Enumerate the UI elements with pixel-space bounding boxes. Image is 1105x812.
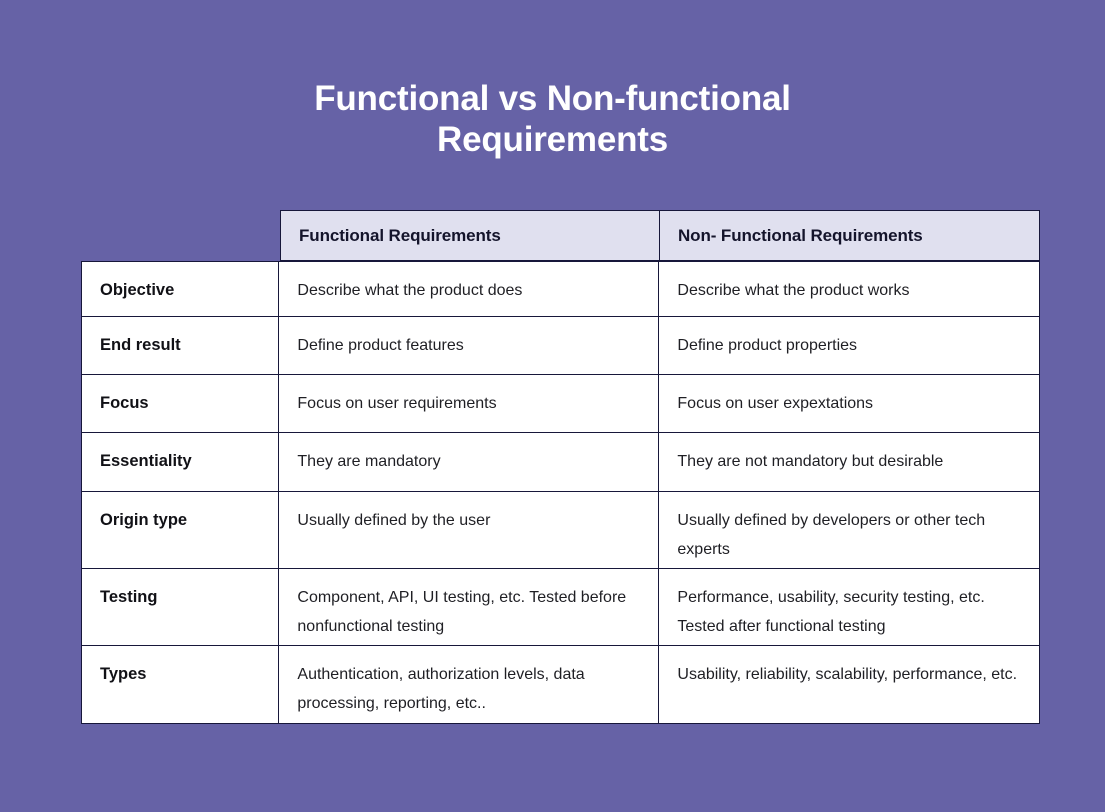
row-functional-types: Authentication, authorization levels, da… bbox=[279, 646, 659, 723]
row-functional-testing: Component, API, UI testing, etc. Tested … bbox=[279, 569, 659, 645]
row-non-functional-objective: Describe what the product works bbox=[659, 262, 1037, 316]
column-header-functional-label: Functional Requirements bbox=[299, 226, 501, 246]
page-title-line-1: Functional vs Non-functional bbox=[0, 78, 1105, 119]
column-header-non-functional: Non- Functional Requirements bbox=[660, 211, 1039, 260]
row-functional-focus: Focus on user requirements bbox=[279, 375, 659, 432]
row-label-end-result: End result bbox=[82, 317, 279, 374]
column-header-functional: Functional Requirements bbox=[281, 211, 660, 260]
row-label-types: Types bbox=[82, 646, 279, 723]
comparison-table: Functional Requirements Non- Functional … bbox=[81, 210, 1040, 722]
row-non-functional-focus: Focus on user expextations bbox=[659, 375, 1037, 432]
row-functional-end-result: Define product features bbox=[279, 317, 659, 374]
row-label-testing: Testing bbox=[82, 569, 279, 645]
row-functional-objective: Describe what the product does bbox=[279, 262, 659, 316]
table-row: Focus Focus on user requirements Focus o… bbox=[82, 375, 1039, 433]
row-non-functional-types: Usability, reliability, scalability, per… bbox=[659, 646, 1037, 723]
table-row: Essentiality They are mandatory They are… bbox=[82, 433, 1039, 492]
table-header-row: Functional Requirements Non- Functional … bbox=[280, 210, 1040, 261]
row-functional-essentiality: They are mandatory bbox=[279, 433, 659, 491]
table-row: End result Define product features Defin… bbox=[82, 317, 1039, 375]
row-label-origin-type: Origin type bbox=[82, 492, 279, 568]
row-non-functional-essentiality: They are not mandatory but desirable bbox=[659, 433, 1037, 491]
page-title: Functional vs Non-functional Requirement… bbox=[0, 78, 1105, 160]
column-header-non-functional-label: Non- Functional Requirements bbox=[678, 226, 923, 246]
table-row: Origin type Usually defined by the user … bbox=[82, 492, 1039, 569]
row-non-functional-origin-type: Usually defined by developers or other t… bbox=[659, 492, 1037, 568]
row-label-objective: Objective bbox=[82, 262, 279, 316]
table-body: Objective Describe what the product does… bbox=[81, 261, 1040, 724]
table-row: Testing Component, API, UI testing, etc.… bbox=[82, 569, 1039, 646]
table-row: Types Authentication, authorization leve… bbox=[82, 646, 1039, 723]
row-non-functional-end-result: Define product properties bbox=[659, 317, 1037, 374]
row-functional-origin-type: Usually defined by the user bbox=[279, 492, 659, 568]
row-label-essentiality: Essentiality bbox=[82, 433, 279, 491]
row-label-focus: Focus bbox=[82, 375, 279, 432]
row-non-functional-testing: Performance, usability, security testing… bbox=[659, 569, 1037, 645]
table-row: Objective Describe what the product does… bbox=[82, 262, 1039, 317]
page-title-line-2: Requirements bbox=[0, 119, 1105, 160]
